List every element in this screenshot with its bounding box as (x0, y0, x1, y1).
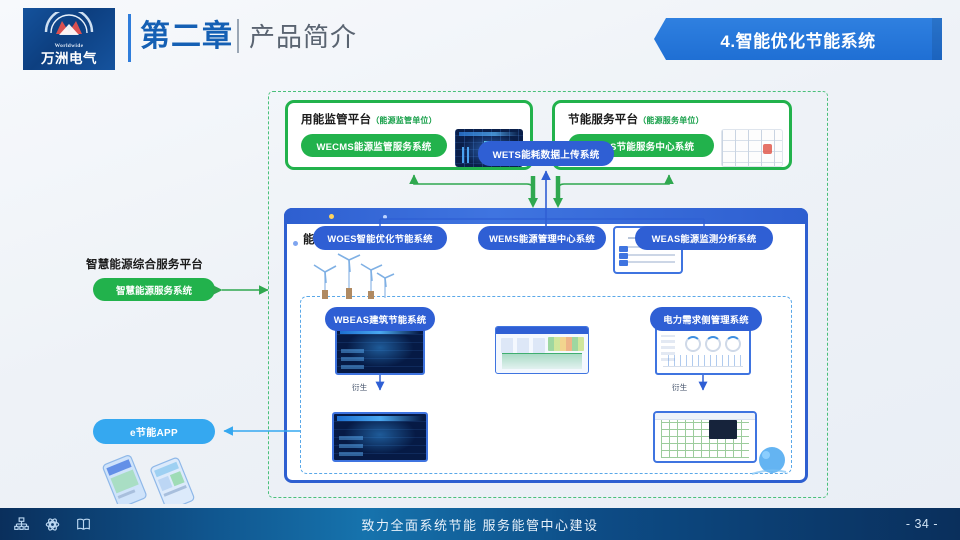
wind-turbine-icon (305, 250, 401, 308)
service-dashboard-thumbnail (721, 129, 783, 167)
service-platform-title: 节能服务平台（能源服务单位） (568, 111, 704, 127)
logo-english: Worldwide (55, 43, 84, 50)
e-energy-app-label: e节能APP (130, 424, 178, 439)
woes-system-pill[interactable]: WOES智能优化节能系统 (313, 226, 447, 250)
mobile-phones-icon (100, 448, 210, 504)
panel-dot-decor (329, 214, 334, 219)
supervision-platform-owner: （能源监管单位） (371, 116, 437, 125)
architecture-diagram: 用能监管平台（能源监管单位） WECMS能源监管服务系统 节能服务平台（能源服务… (0, 78, 960, 508)
wems-system-pill[interactable]: WEMS能源管理中心系统 (478, 226, 606, 250)
wets-upload-label: WETS能耗数据上传系统 (493, 147, 600, 161)
woes-derivative-label: 衍生 (352, 382, 367, 393)
section-subtitle: 产品简介 (249, 19, 357, 55)
topic-ribbon: 4.智能优化节能系统 (654, 18, 942, 60)
wems-dashboard-thumbnail (495, 326, 589, 374)
company-logo: Worldwide 万洲电气 (23, 8, 115, 70)
wems-system-label: WEMS能源管理中心系统 (489, 231, 595, 245)
power-demand-system-pill[interactable]: 电力需求侧管理系统 (650, 307, 762, 331)
wbeas-system-pill[interactable]: WBEAS建筑节能系统 (325, 307, 435, 331)
woes-dashboard-thumbnail (335, 325, 425, 375)
wecms-system-label: WECMS能源监管服务系统 (316, 139, 431, 153)
slide-footer: 致力全面系统节能 服务能管中心建设 - 34 - (0, 508, 960, 540)
panel-dot-decor (383, 215, 387, 219)
chapter-title: 第二章 (140, 16, 233, 58)
supervision-platform-title: 用能监管平台（能源监管单位） (301, 111, 437, 127)
wets-upload-pill[interactable]: WETS能耗数据上传系统 (478, 141, 614, 166)
topic-ribbon-label: 4.智能优化节能系统 (720, 27, 875, 52)
power-demand-system-label: 电力需求侧管理系统 (663, 312, 748, 326)
smart-energy-service-pill[interactable]: 智慧能源服务系统 (93, 278, 215, 301)
footer-slogan: 致力全面系统节能 服务能管中心建设 (0, 515, 960, 534)
woes-system-label: WOES智能优化节能系统 (327, 231, 432, 245)
logo-mark-icon (42, 12, 96, 42)
supervision-platform-name: 用能监管平台 (301, 114, 371, 126)
wbeas-dashboard-thumbnail (332, 412, 428, 462)
logo-chinese: 万洲电气 (41, 51, 97, 67)
smart-energy-platform-heading: 智慧能源综合服务平台 (86, 256, 203, 272)
weas-system-label: WEAS能源监测分析系统 (652, 231, 757, 245)
weas-system-pill[interactable]: WEAS能源监测分析系统 (635, 226, 773, 250)
panel-dot-decor (293, 241, 298, 246)
weas-dashboard-thumbnail (655, 325, 751, 375)
weas-derivative-label: 衍生 (672, 382, 687, 393)
page-number: - 34 - (906, 517, 938, 531)
header-separator (237, 19, 239, 53)
e-energy-app-pill[interactable]: e节能APP (93, 419, 215, 444)
wbeas-system-label: WBEAS建筑节能系统 (334, 312, 427, 326)
service-platform-name: 节能服务平台 (568, 114, 638, 126)
service-platform-owner: （能源服务单位） (638, 116, 704, 125)
header-accent-bar (128, 14, 131, 62)
slide-header: Worldwide 万洲电气 第二章 产品简介 4.智能优化节能系统 (0, 0, 960, 78)
smart-energy-service-label: 智慧能源服务系统 (116, 283, 192, 297)
power-demand-dashboard-thumbnail (653, 411, 757, 463)
wecms-system-pill[interactable]: WECMS能源监管服务系统 (301, 134, 447, 157)
